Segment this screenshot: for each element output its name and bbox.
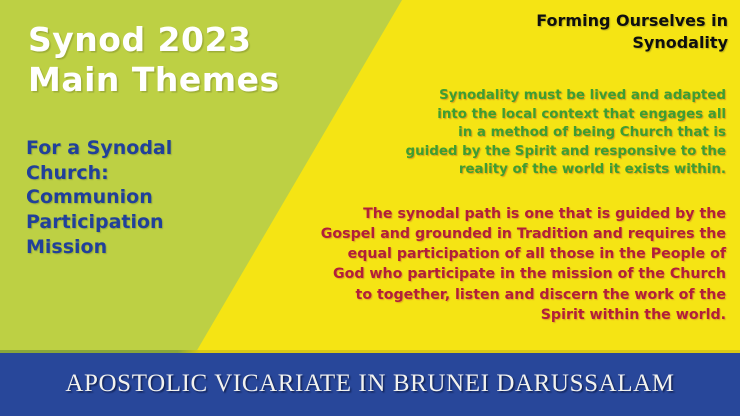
banner-top-strip: [0, 350, 740, 353]
synodal-path-paragraph-red: The synodal path is one that is guided b…: [311, 204, 726, 325]
right-column: Forming Ourselves in Synodality Synodali…: [300, 0, 740, 352]
forming-ourselves-heading: Forming Ourselves in Synodality: [428, 10, 728, 53]
banner-title: APOSTOLIC VICARIATE IN BRUNEI DARUSSALAM: [65, 370, 674, 398]
synodal-church-subtitle: For a Synodal Church: Communion Particip…: [26, 136, 256, 259]
page-title: Synod 2023 Main Themes: [28, 20, 318, 101]
left-column: Synod 2023 Main Themes For a Synodal Chu…: [0, 0, 330, 352]
slide-canvas: Synod 2023 Main Themes For a Synodal Chu…: [0, 0, 740, 416]
bottom-banner: APOSTOLIC VICARIATE IN BRUNEI DARUSSALAM: [0, 352, 740, 416]
synodality-paragraph-green: Synodality must be lived and adapted int…: [334, 87, 726, 180]
